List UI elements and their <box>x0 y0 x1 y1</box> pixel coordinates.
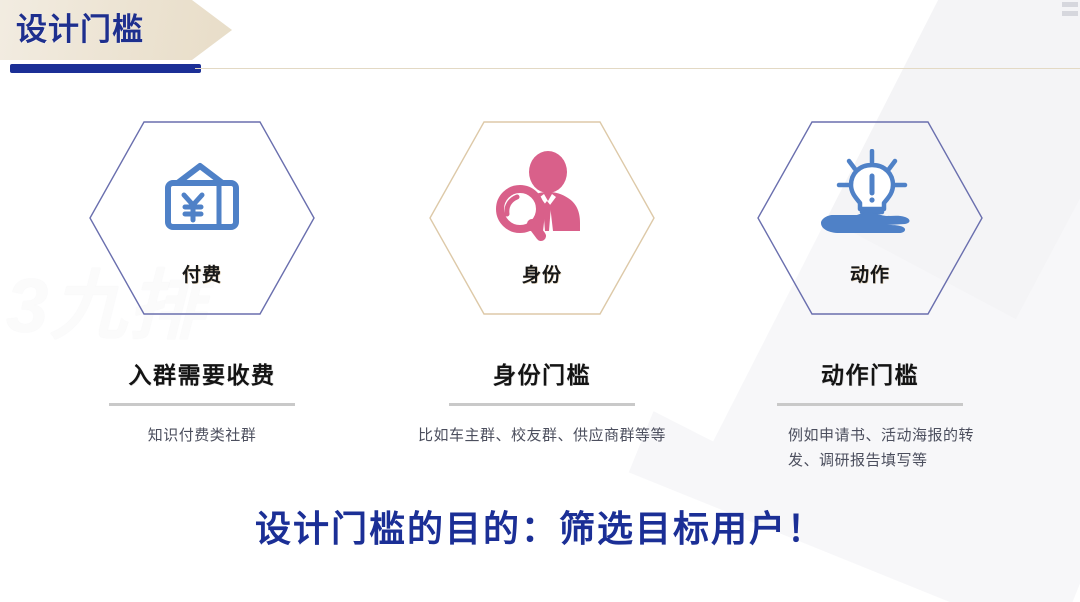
card-title-action: 动作门槛 <box>700 356 1040 390</box>
header-underline-thin <box>195 68 1080 69</box>
card-desc-payment: 知识付费类社群 <box>32 423 372 448</box>
card-group: 付费 入群需要收费 知识付费类社群 <box>0 118 1080 473</box>
card-identity: 身份 身份门槛 比如车主群、校友群、供应商群等等 <box>372 118 712 473</box>
hexagon-frame-payment: 付费 <box>86 118 318 318</box>
person-search-icon <box>426 142 658 252</box>
slide-conclusion: 设计门槛的目的：筛选目标用户！ <box>0 500 1080 552</box>
hex-label-action: 动作 <box>754 260 986 287</box>
header-underline-blue <box>10 64 201 73</box>
hand-lightbulb-icon <box>754 142 986 252</box>
card-desc-action: 例如申请书、活动海报的转发、调研报告填写等 <box>788 423 998 473</box>
card-desc-identity: 比如车主群、校友群、供应商群等等 <box>372 423 712 448</box>
hexagon-frame-action: 动作 <box>754 118 986 318</box>
card-divider-identity <box>449 403 635 406</box>
wallet-yen-icon <box>86 142 318 252</box>
card-divider-action <box>777 403 963 406</box>
slide-header: 设计门槛 <box>0 0 1080 80</box>
hex-label-identity: 身份 <box>426 260 658 287</box>
page-title: 设计门槛 <box>16 9 144 51</box>
hex-label-payment: 付费 <box>86 260 318 287</box>
card-payment: 付费 入群需要收费 知识付费类社群 <box>32 118 372 473</box>
card-title-payment: 入群需要收费 <box>32 356 372 390</box>
hexagon-frame-identity: 身份 <box>426 118 658 318</box>
slide-canvas: 3九排 设计门槛 <box>0 0 1080 602</box>
card-title-identity: 身份门槛 <box>372 356 712 390</box>
card-action: 动作 动作门槛 例如申请书、活动海报的转发、调研报告填写等 <box>700 118 1040 473</box>
card-divider-payment <box>109 403 295 406</box>
